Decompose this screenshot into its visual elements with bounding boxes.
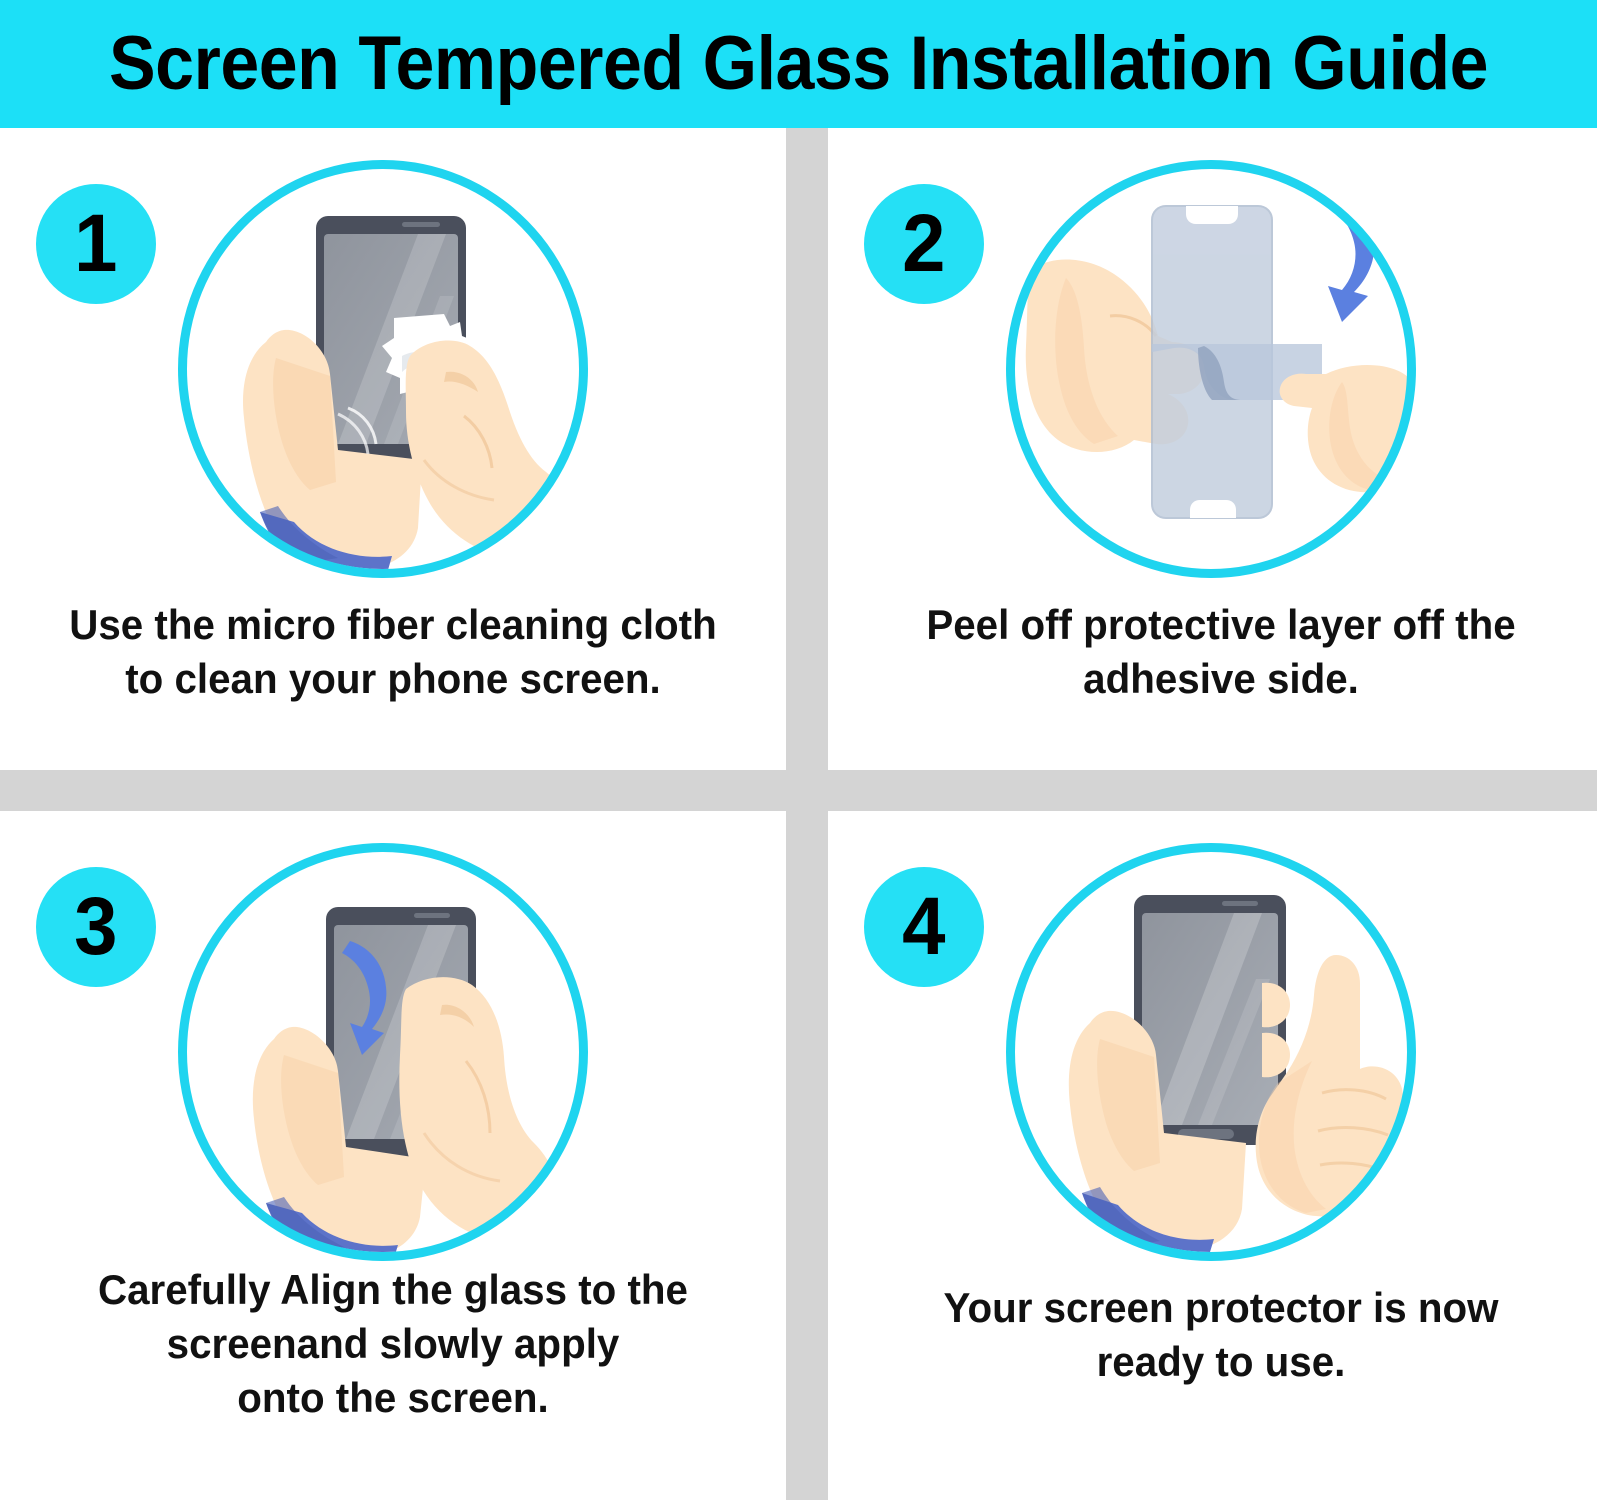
caption-line: Carefully Align the glass to the xyxy=(54,1263,732,1317)
step-illustration-3 xyxy=(178,843,588,1261)
step-number-2: 2 xyxy=(902,203,945,285)
step-caption-2: Peel off protective layer off the adhesi… xyxy=(882,598,1560,706)
caption-line: ready to use. xyxy=(882,1335,1560,1389)
step-caption-3: Carefully Align the glass to the screena… xyxy=(54,1263,732,1424)
step-number-badge-2: 2 xyxy=(864,184,984,304)
step-caption-1: Use the micro fiber cleaning cloth to cl… xyxy=(54,598,732,706)
illustration-ring-2 xyxy=(1006,160,1416,578)
step-number-1: 1 xyxy=(74,203,117,285)
step-panel-3: 3 xyxy=(0,811,786,1500)
step-illustration-1 xyxy=(178,160,588,578)
step-illustration-4 xyxy=(1006,843,1416,1261)
step-number-badge-1: 1 xyxy=(36,184,156,304)
horizontal-divider xyxy=(0,770,1597,811)
caption-line: Peel off protective layer off the xyxy=(882,598,1560,652)
caption-line: Use the micro fiber cleaning cloth xyxy=(54,598,732,652)
illustration-ring-4 xyxy=(1006,843,1416,1261)
step-number-badge-3: 3 xyxy=(36,867,156,987)
caption-line: onto the screen. xyxy=(54,1371,732,1425)
step-panel-1: 1 xyxy=(0,128,786,770)
step-number-3: 3 xyxy=(74,886,117,968)
illustration-ring-1 xyxy=(178,160,588,578)
step-number-badge-4: 4 xyxy=(864,867,984,987)
step-illustration-2 xyxy=(1006,160,1416,578)
step-caption-4: Your screen protector is now ready to us… xyxy=(882,1281,1560,1389)
illustration-ring-3 xyxy=(178,843,588,1261)
caption-line: to clean your phone screen. xyxy=(54,652,732,706)
step-number-4: 4 xyxy=(902,886,945,968)
caption-line: adhesive side. xyxy=(882,652,1560,706)
caption-line: screenand slowly apply xyxy=(54,1317,732,1371)
vertical-divider xyxy=(786,128,828,1500)
step-panel-2: 2 xyxy=(828,128,1597,770)
step-panel-4: 4 xyxy=(828,811,1597,1500)
header-banner: Screen Tempered Glass Installation Guide xyxy=(0,0,1597,128)
page-title: Screen Tempered Glass Installation Guide xyxy=(109,26,1488,102)
caption-line: Your screen protector is now xyxy=(882,1281,1560,1335)
